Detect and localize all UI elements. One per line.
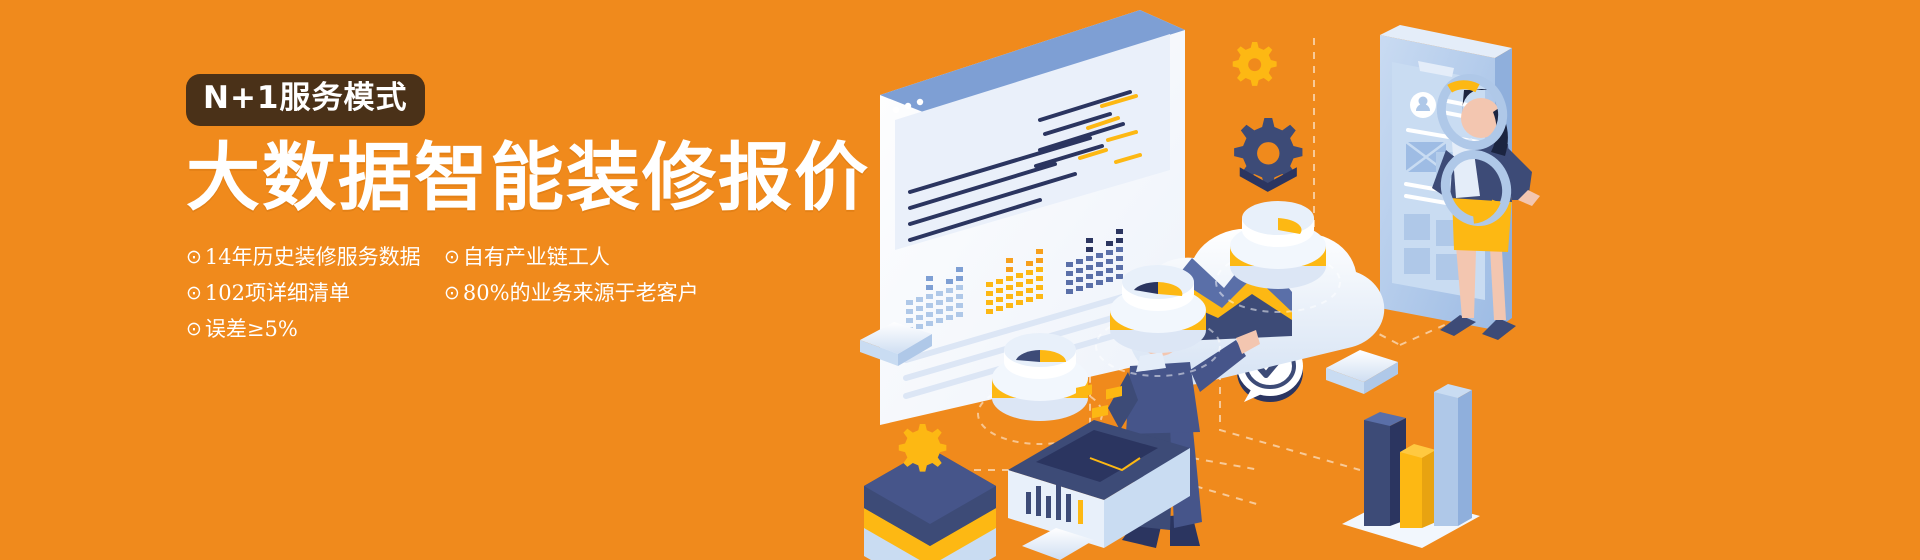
bullet-dot-icon: ⊙ <box>186 320 202 339</box>
bullet-dot-icon: ⊙ <box>444 248 460 267</box>
isometric-illustration <box>840 0 1920 560</box>
bullet-dot-icon: ⊙ <box>444 284 460 303</box>
promo-banner: N+1服务模式 大数据智能装修报价 ⊙ 14年历史装修服务数据 ⊙ 102项详细… <box>0 0 1920 560</box>
list-item-label: 80%的业务来源于老客户 <box>463 283 699 304</box>
list-item-label: 自有产业链工人 <box>463 247 610 268</box>
feature-bullet-list: ⊙ 14年历史装修服务数据 ⊙ 102项详细清单 ⊙ 误差≥5% ⊙ 自有产业链… <box>186 240 826 348</box>
hex-gear-stack <box>864 424 996 560</box>
service-model-badge: N+1服务模式 <box>186 74 425 126</box>
list-item-label: 14年历史装修服务数据 <box>205 247 421 268</box>
bullet-dot-icon: ⊙ <box>186 248 202 267</box>
gear-small-icon <box>1233 42 1277 86</box>
list-item: ⊙ 80%的业务来源于老客户 <box>444 283 826 304</box>
bullet-dot-icon: ⊙ <box>186 284 202 303</box>
list-item-label: 102项详细清单 <box>205 283 350 304</box>
page-title: 大数据智能装修报价 <box>186 140 826 218</box>
banner-copy: N+1服务模式 大数据智能装修报价 ⊙ 14年历史装修服务数据 ⊙ 102项详细… <box>186 74 826 348</box>
gear-large-icon <box>1234 118 1302 192</box>
bar-chart-3d <box>1342 384 1480 548</box>
list-item: ⊙ 102项详细清单 <box>186 283 444 304</box>
list-item: ⊙ 自有产业链工人 <box>444 247 826 268</box>
list-item: ⊙ 误差≥5% <box>186 319 444 340</box>
list-item-label: 误差≥5% <box>205 319 298 340</box>
list-item: ⊙ 14年历史装修服务数据 <box>186 247 444 268</box>
